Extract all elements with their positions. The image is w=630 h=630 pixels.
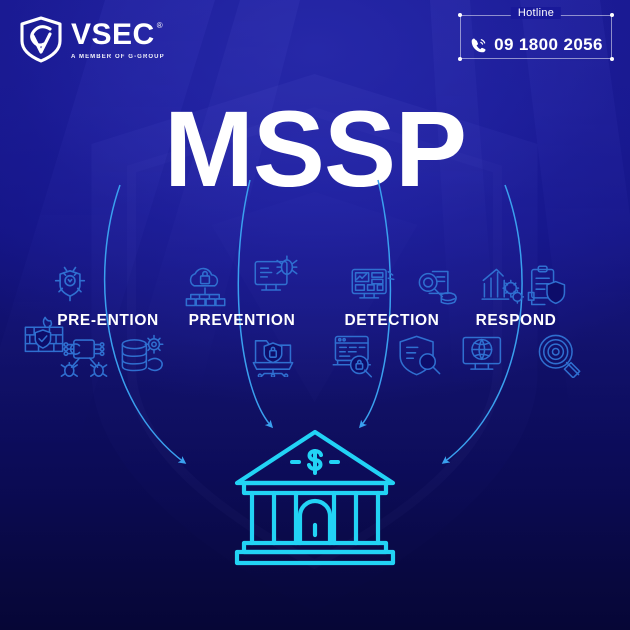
corner-dot-top-right: [610, 13, 614, 17]
cloud-lock-network-icon: [182, 266, 228, 310]
bug-shield-icon: [48, 262, 92, 306]
hotline-number[interactable]: 09 1800 2056: [494, 35, 603, 55]
brand-tagline: A MEMBER OF G-GROUP: [71, 54, 165, 60]
brand-logo[interactable]: VSEC ® A MEMBER OF G-GROUP: [20, 16, 165, 63]
globe-monitor-icon: [460, 334, 508, 378]
brand-name: VSEC: [71, 20, 155, 50]
folder-shield-lock-icon: [249, 333, 297, 377]
stage-label-1: PREVENTION: [189, 312, 296, 330]
chip-malware-icon: [58, 333, 110, 381]
page-title: MSSP: [0, 95, 630, 203]
document-search-icon: [415, 268, 461, 310]
registered-mark: ®: [157, 22, 163, 30]
phone-call-icon: [469, 36, 488, 55]
stage-label-3: RESPOND: [476, 312, 557, 330]
monitor-analytics-icon: [349, 265, 397, 309]
shield-search-icon: [398, 333, 444, 377]
vsec-shield-logo-icon: [20, 16, 62, 63]
stage-label-2: DETECTION: [345, 312, 440, 330]
fingerprint-search-icon: [534, 332, 584, 378]
monitor-bug-icon: [252, 255, 300, 301]
database-gear-icon: [118, 332, 166, 374]
corner-dot-bottom-left: [458, 57, 462, 61]
bank-building-icon: [230, 424, 400, 574]
chart-gears-icon: [480, 266, 524, 308]
server-lock-search-icon: [330, 332, 380, 378]
curved-arrow-icon: [238, 180, 272, 427]
mssp-infographic-poster: VSEC ® A MEMBER OF G-GROUP Hotline 09 18…: [0, 0, 630, 630]
clipboard-shield-icon: [523, 264, 571, 310]
corner-dot-bottom-right: [610, 57, 614, 61]
hotline-label: Hotline: [511, 7, 561, 19]
corner-dot-top-left: [458, 13, 462, 17]
hotline-box[interactable]: Hotline 09 1800 2056: [460, 15, 612, 59]
stage-label-0: PRE-ENTION: [57, 312, 159, 330]
